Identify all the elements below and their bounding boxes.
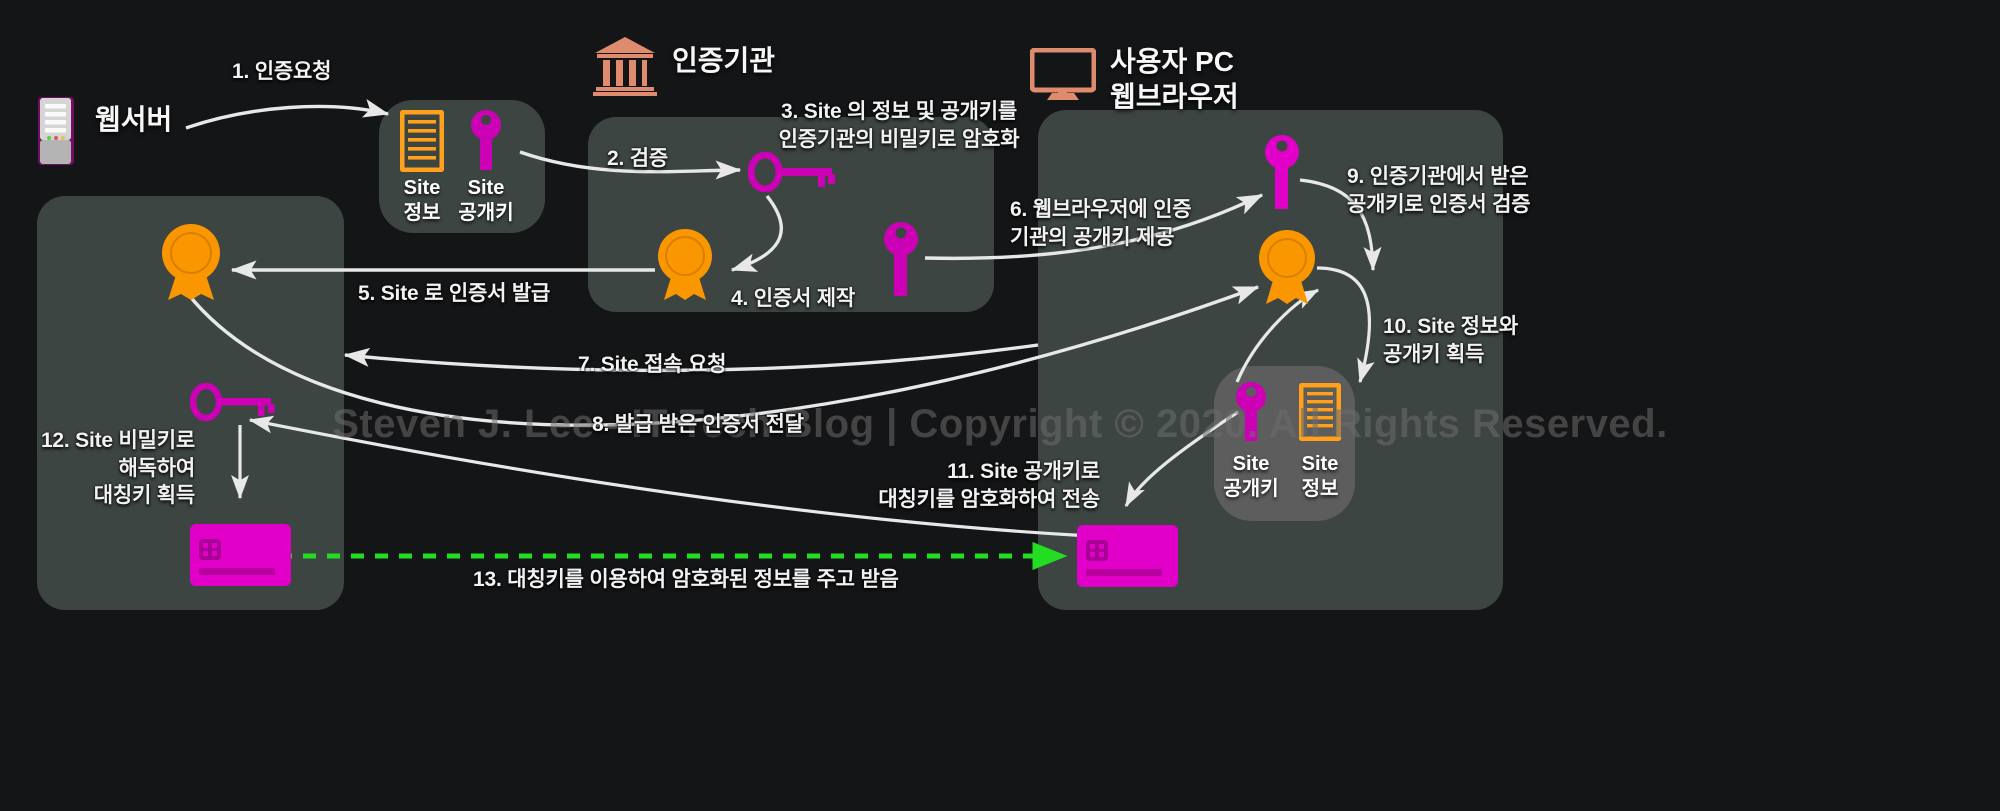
symmetric-key-card-web-server — [190, 524, 291, 586]
step-label-5: 5. Site 로 인증서 발급 — [358, 280, 550, 308]
institution-icon — [592, 35, 658, 97]
ca-secret-key-icon — [748, 152, 838, 192]
ca-certificate-seal-icon — [654, 226, 716, 302]
title-web-server: 웹서버 — [95, 102, 172, 137]
step-label-7: 7. Site 접속 요청 — [578, 351, 726, 379]
monitor-icon — [1030, 48, 1096, 102]
step-label-1: 1. 인증요청 — [232, 58, 331, 86]
web-server-icon — [36, 95, 76, 167]
site-info-document-icon — [400, 110, 444, 172]
arrow-step-1 — [186, 106, 388, 128]
ca-public-key-icon — [881, 220, 921, 298]
arrow-step-10 — [1317, 268, 1369, 382]
symmetric-key-card-browser — [1077, 525, 1178, 587]
arrow-step-3 — [732, 196, 781, 270]
step-label-6: 6. 웹브라우저에 인증 기관의 공개키 제공 — [1010, 196, 1191, 251]
step-label-4: 4. 인증서 제작 — [731, 285, 855, 313]
web-server-certificate-seal-icon — [158, 222, 224, 302]
site-secret-key-icon — [190, 383, 278, 421]
title-certificate-authority: 인증기관 — [672, 43, 775, 78]
step-label-10: 10. Site 정보와 공개키 획득 — [1383, 313, 1518, 368]
caption-browser-site-public-key: Site 공개키 — [1212, 452, 1290, 502]
caption-browser-site-info: Site 정보 — [1281, 452, 1359, 502]
site-public-key-icon — [466, 108, 506, 172]
browser-ca-public-key-icon — [1262, 133, 1302, 211]
step-label-8: 8. 발급 받은 인증서 전달 — [592, 411, 804, 439]
browser-certificate-seal-icon — [1255, 228, 1319, 306]
caption-site-public-key: Site 공개키 — [446, 176, 526, 226]
browser-site-public-key-icon — [1232, 380, 1270, 442]
step-label-2: 2. 검증 — [607, 145, 668, 173]
step-label-9: 9. 인증기관에서 받은 공개키로 인증서 검증 — [1347, 163, 1530, 218]
diagram-canvas: 웹서버 인증기관 사용자 PC 웹브라우저 — [0, 0, 2000, 811]
step-label-12: 12. Site 비밀키로 해독하여 대칭키 획득 — [10, 427, 195, 510]
step-label-13: 13. 대칭키를 이용하여 암호화된 정보를 주고 받음 — [473, 566, 899, 594]
title-user-pc: 사용자 PC 웹브라우저 — [1110, 44, 1239, 114]
step-label-11: 11. Site 공개키로 대칭키를 암호화하여 전송 — [810, 458, 1100, 513]
browser-site-info-document-icon — [1299, 383, 1341, 441]
step-label-3: 3. Site 의 정보 및 공개키를 인증기관의 비밀키로 암호화 — [762, 98, 1036, 153]
